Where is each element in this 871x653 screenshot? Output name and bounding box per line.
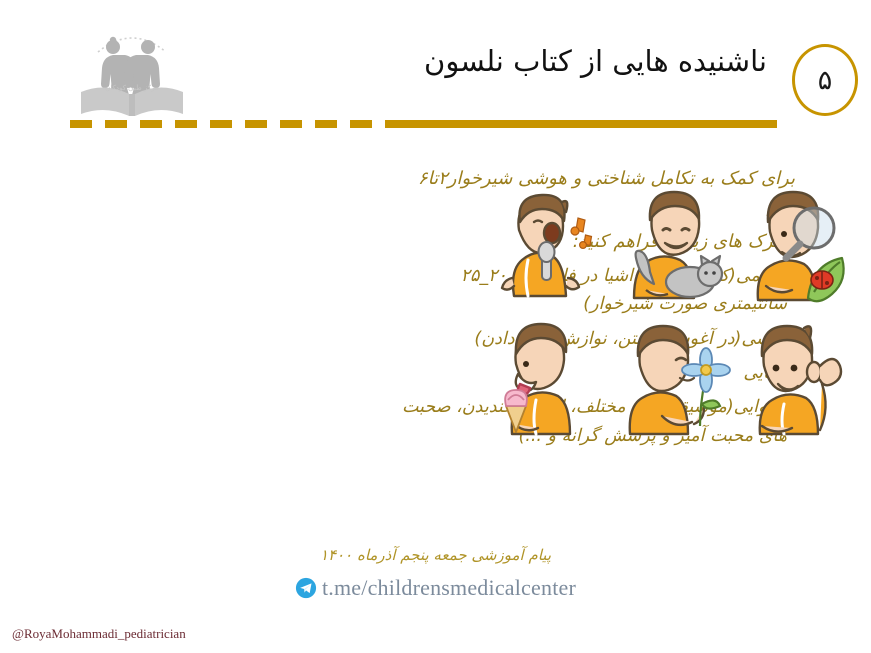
boy-holding-cat-illustration [606,186,734,314]
divider-solid-segment [386,120,777,128]
boy-smelling-flower-illustration [606,320,734,448]
footer-persian-note: پیام آموزشی جمعه پنجم آذرماه ۱۴۰۰ [0,546,871,564]
boy-listening-hand-ear-illustration [736,320,864,448]
telegram-url-text: t.me/childrensmedicalcenter [322,575,576,601]
telegram-link[interactable]: t.me/childrensmedicalcenter [0,575,871,601]
divider-dashed-segment [70,120,386,128]
telegram-icon [295,577,317,599]
boy-magnifying-glass-illustration [736,186,864,314]
boy-singing-microphone-illustration [476,186,604,314]
page-title: ناشنیده هایی از کتاب نلسون [347,44,767,78]
illustration-grid [476,186,864,448]
organization-logo: مرکز طبی کودکان [72,18,192,123]
page-number-value: ۵ [818,67,833,94]
boy-eating-icecream-illustration [476,320,604,448]
svg-text:مرکز طبی کودکان: مرکز طبی کودکان [105,84,159,92]
header-divider [70,120,777,128]
author-handle: @RoyaMohammadi_pediatrician [12,626,186,642]
slide-canvas: مرکز طبی کودکان ۵ ناشنیده هایی از کتاب ن… [0,0,871,653]
page-number-badge: ۵ [792,44,858,116]
